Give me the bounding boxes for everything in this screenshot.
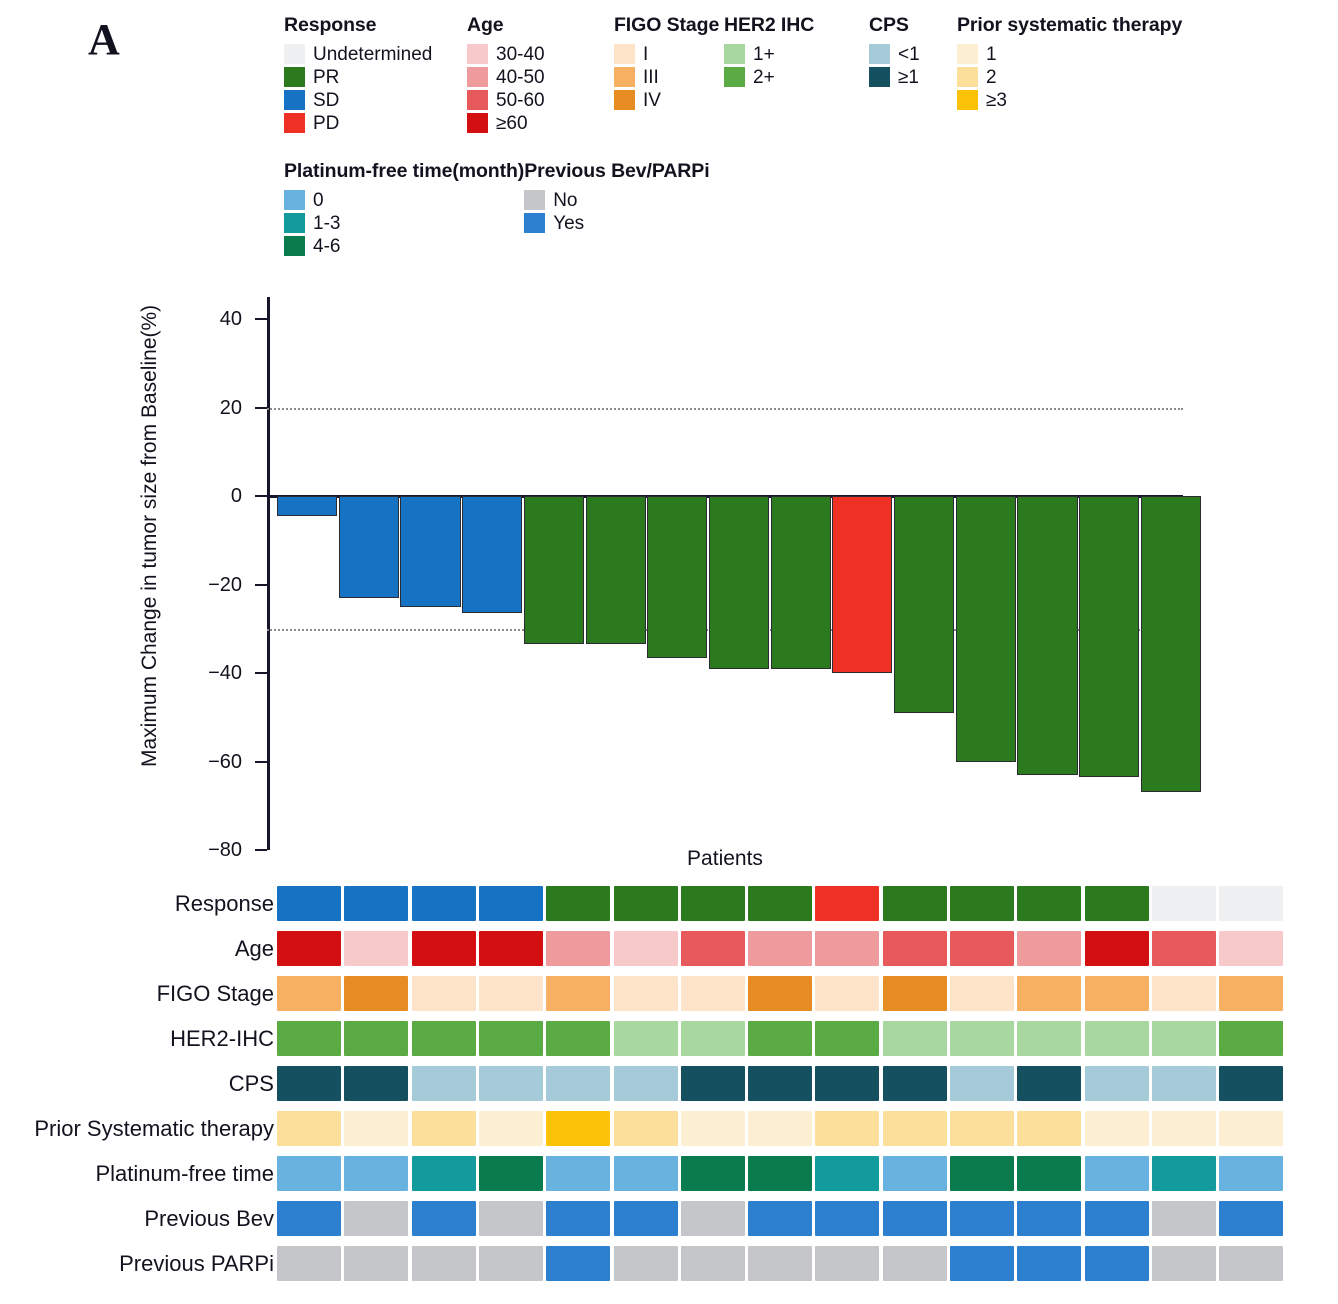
- heatmap-cell: [344, 1246, 408, 1281]
- bar: [832, 496, 892, 673]
- legend-row-bottom: Platinum-free time(month)01-34-6Previous…: [284, 160, 710, 257]
- heatmap-cell: [748, 1066, 812, 1101]
- reference-line: [267, 408, 1183, 410]
- bar: [709, 496, 769, 669]
- legend-title-response: Response: [284, 14, 467, 37]
- heatmap-cell: [412, 1246, 476, 1281]
- heatmap-cell: [681, 1201, 745, 1236]
- heatmap-cell: [546, 976, 610, 1011]
- heatmap-cell: [1085, 931, 1149, 966]
- bar: [1079, 496, 1139, 777]
- y-axis-tick-label: 20: [198, 397, 242, 420]
- heatmap-cell: [546, 1066, 610, 1101]
- heatmap-cell: [1152, 1156, 1216, 1191]
- heatmap-cell: [344, 976, 408, 1011]
- legend-item-label: 4-6: [313, 237, 340, 256]
- y-axis-tick-label: −60: [198, 751, 242, 774]
- bar: [400, 496, 460, 607]
- heatmap-cell: [344, 1201, 408, 1236]
- heatmap-cell: [1219, 886, 1283, 921]
- legend-item-label: ≥60: [496, 114, 528, 133]
- legend-swatch-icon: [284, 190, 305, 210]
- legend-items-figo: IIIIIV: [614, 43, 724, 111]
- heatmap-cell: [1085, 1156, 1149, 1191]
- heatmap-cell: [883, 1021, 947, 1056]
- legend-swatch-icon: [284, 236, 305, 256]
- heatmap-cell: [412, 976, 476, 1011]
- heatmap-cell: [614, 886, 678, 921]
- heatmap-cell: [950, 1021, 1014, 1056]
- legend-item: 4-6: [284, 235, 524, 257]
- bar: [277, 496, 337, 516]
- heatmap-cell: [1085, 886, 1149, 921]
- bar: [956, 496, 1016, 761]
- heatmap-cell: [1017, 976, 1081, 1011]
- legend-swatch-icon: [284, 90, 305, 110]
- heatmap-cell: [412, 886, 476, 921]
- heatmap-cell: [412, 1021, 476, 1056]
- heatmap-cell: [614, 1066, 678, 1101]
- heatmap-cell: [479, 1246, 543, 1281]
- heatmap-cell: [614, 931, 678, 966]
- heatmap-cell: [950, 931, 1014, 966]
- heatmap-cell: [614, 976, 678, 1011]
- x-axis-label: Patients: [267, 847, 1183, 871]
- legend-item-label: 50-60: [496, 91, 545, 110]
- heatmap-cell: [412, 1111, 476, 1146]
- legend-item: 1-3: [284, 212, 524, 234]
- legend-item: 40-50: [467, 66, 614, 88]
- heatmap-cell: [681, 1156, 745, 1191]
- heatmap-cell: [748, 1111, 812, 1146]
- legend-swatch-icon: [524, 213, 545, 233]
- heatmap-row-platinum-free-time: Platinum-free time: [0, 1156, 1338, 1201]
- legend-item-label: Yes: [553, 214, 584, 233]
- legend-swatch-icon: [724, 44, 745, 64]
- heatmap-cell: [614, 1246, 678, 1281]
- heatmap-cell: [748, 1156, 812, 1191]
- legend-title-platinum_free_time: Platinum-free time(month): [284, 160, 524, 183]
- heatmap-cell: [277, 1111, 341, 1146]
- heatmap-cell: [1152, 1111, 1216, 1146]
- legend-swatch-icon: [869, 67, 890, 87]
- heatmap-cell: [883, 1156, 947, 1191]
- legend-item: 0: [284, 189, 524, 211]
- legend-item-label: 2+: [753, 68, 775, 87]
- heatmap-cell: [412, 1201, 476, 1236]
- heatmap-row-label-previous-bev: Previous Bev: [144, 1201, 274, 1236]
- heatmap-cell: [748, 976, 812, 1011]
- heatmap-cell: [815, 1201, 879, 1236]
- heatmap-cell: [883, 976, 947, 1011]
- legend-swatch-icon: [614, 44, 635, 64]
- y-axis-tick: [255, 849, 267, 851]
- heatmap-cell: [479, 1021, 543, 1056]
- heatmap-cell: [479, 886, 543, 921]
- heatmap-cell: [883, 1111, 947, 1146]
- heatmap-cell: [950, 1246, 1014, 1281]
- y-axis-tick: [255, 495, 267, 497]
- heatmap-cell: [546, 931, 610, 966]
- bar: [894, 496, 954, 713]
- legend-item: I: [614, 43, 724, 65]
- heatmap-cell: [883, 931, 947, 966]
- bar: [1141, 496, 1201, 792]
- heatmap-cell: [614, 1156, 678, 1191]
- legend-group-figo: FIGO StageIIIIIV: [614, 14, 724, 111]
- heatmap-cell: [277, 886, 341, 921]
- legend-title-cps: CPS: [869, 14, 957, 37]
- bar: [771, 496, 831, 669]
- heatmap-cell: [344, 1156, 408, 1191]
- heatmap-cell: [344, 1111, 408, 1146]
- heatmap-cell: [815, 931, 879, 966]
- heatmap-cell: [1152, 976, 1216, 1011]
- heatmap-row-label-her2-ihc: HER2-IHC: [170, 1021, 274, 1056]
- heatmap-cell: [681, 1111, 745, 1146]
- heatmap-cell: [1152, 1021, 1216, 1056]
- heatmap-cell: [344, 1066, 408, 1101]
- legend-item: IV: [614, 89, 724, 111]
- heatmap-cell: [1017, 1246, 1081, 1281]
- heatmap-cell: [815, 1111, 879, 1146]
- heatmap-cell: [883, 1066, 947, 1101]
- bar: [462, 496, 522, 613]
- heatmap-cell: [748, 886, 812, 921]
- heatmap-cell: [1017, 1021, 1081, 1056]
- y-axis-label: Maximum Change in tumor size from Baseli…: [138, 347, 162, 767]
- heatmap-row-cps: CPS: [0, 1066, 1338, 1111]
- heatmap-cell: [815, 1156, 879, 1191]
- legend-group-prior_therapy: Prior systematic therapy12≥3: [957, 14, 1197, 111]
- legend-item: 1: [957, 43, 1197, 65]
- legend-items-prior_therapy: 12≥3: [957, 43, 1197, 111]
- legend-swatch-icon: [614, 67, 635, 87]
- legend-item-label: 30-40: [496, 45, 545, 64]
- legend-item: 2+: [724, 66, 869, 88]
- legend-item-label: 2: [986, 68, 997, 87]
- heatmap-cell: [479, 931, 543, 966]
- heatmap-cell: [1219, 931, 1283, 966]
- heatmap-row-label-age: Age: [235, 931, 274, 966]
- heatmap-cell: [546, 1021, 610, 1056]
- heatmap-cell: [681, 1246, 745, 1281]
- bar: [524, 496, 584, 644]
- heatmap-cell: [1152, 1246, 1216, 1281]
- legend-item-label: III: [643, 68, 659, 87]
- heatmap-cell: [1017, 1066, 1081, 1101]
- legend-swatch-icon: [467, 113, 488, 133]
- legend-swatch-icon: [467, 44, 488, 64]
- heatmap-cell: [883, 1201, 947, 1236]
- legend-group-cps: CPS<1≥1: [869, 14, 957, 88]
- legend-row-top: ResponseUndeterminedPRSDPDAge30-4040-505…: [284, 14, 1197, 134]
- heatmap-cell: [344, 1021, 408, 1056]
- heatmap-cell: [815, 1066, 879, 1101]
- heatmap-cell: [950, 1066, 1014, 1101]
- legend-swatch-icon: [957, 67, 978, 87]
- legend-item-label: ≥3: [986, 91, 1007, 110]
- legend-item: ≥1: [869, 66, 957, 88]
- heatmap-cell: [412, 1156, 476, 1191]
- waterfall-chart: Maximum Change in tumor size from Baseli…: [0, 275, 1338, 875]
- heatmap-row-figo-stage: FIGO Stage: [0, 976, 1338, 1021]
- legend-item-label: ≥1: [898, 68, 919, 87]
- heatmap-cell: [546, 886, 610, 921]
- y-axis-tick: [255, 318, 267, 320]
- heatmap-cell: [748, 931, 812, 966]
- heatmap-cell: [479, 1111, 543, 1146]
- heatmap-cell: [546, 1156, 610, 1191]
- heatmap-cell: [614, 1201, 678, 1236]
- legend-item: Undetermined: [284, 43, 467, 65]
- heatmap-cell: [1017, 886, 1081, 921]
- heatmap-cell: [950, 1156, 1014, 1191]
- legend-item-label: <1: [898, 45, 920, 64]
- legend-title-her2: HER2 IHC: [724, 14, 869, 37]
- legend-swatch-icon: [284, 44, 305, 64]
- legend-item-label: PD: [313, 114, 339, 133]
- heatmap-cell: [277, 1021, 341, 1056]
- legend-item: Yes: [524, 212, 709, 234]
- heatmap-cell: [950, 1201, 1014, 1236]
- heatmap-cell: [748, 1246, 812, 1281]
- legend-title-prior_therapy: Prior systematic therapy: [957, 14, 1197, 37]
- heatmap-cell: [815, 976, 879, 1011]
- legend-swatch-icon: [524, 190, 545, 210]
- heatmap-cell: [546, 1201, 610, 1236]
- heatmap-cell: [1219, 976, 1283, 1011]
- heatmap-cell: [614, 1111, 678, 1146]
- legend-item-label: IV: [643, 91, 661, 110]
- heatmap-cell: [681, 1066, 745, 1101]
- legend-items-age: 30-4040-5050-60≥60: [467, 43, 614, 134]
- legend-items-previous_bev_parpi: NoYes: [524, 189, 709, 234]
- legend-group-age: Age30-4040-5050-60≥60: [467, 14, 614, 134]
- heatmap-cell: [344, 886, 408, 921]
- heatmap-cell: [277, 1201, 341, 1236]
- legend-item-label: Undetermined: [313, 45, 432, 64]
- legend-swatch-icon: [869, 44, 890, 64]
- y-axis-tick: [255, 672, 267, 674]
- heatmap-cell: [1219, 1066, 1283, 1101]
- legend-item: ≥60: [467, 112, 614, 134]
- heatmap-cell: [815, 1021, 879, 1056]
- bar: [647, 496, 707, 657]
- plot-region: [267, 297, 1183, 850]
- legend-item: No: [524, 189, 709, 211]
- legend-item-label: I: [643, 45, 648, 64]
- heatmap-cell: [614, 1021, 678, 1056]
- heatmap-row-age: Age: [0, 931, 1338, 976]
- legend-item-label: SD: [313, 91, 339, 110]
- heatmap-cell: [1152, 1066, 1216, 1101]
- heatmap-cell: [1219, 1111, 1283, 1146]
- legend-item: III: [614, 66, 724, 88]
- y-axis-tick-label: 0: [198, 485, 242, 508]
- heatmap-cell: [748, 1201, 812, 1236]
- heatmap-row-her2-ihc: HER2-IHC: [0, 1021, 1338, 1066]
- bar: [586, 496, 646, 644]
- heatmap-cell: [1219, 1246, 1283, 1281]
- heatmap-row-label-prior-systematic-therapy: Prior Systematic therapy: [34, 1111, 274, 1146]
- heatmap-cell: [277, 931, 341, 966]
- heatmap-cell: [1085, 1066, 1149, 1101]
- heatmap-cell: [1152, 886, 1216, 921]
- legend-title-previous_bev_parpi: Previous Bev/PARPi: [524, 160, 709, 183]
- heatmap-cell: [1085, 1201, 1149, 1236]
- heatmap-cell: [546, 1246, 610, 1281]
- legend-items-response: UndeterminedPRSDPD: [284, 43, 467, 134]
- heatmap-cell: [883, 1246, 947, 1281]
- legend-swatch-icon: [957, 44, 978, 64]
- heatmap-cell: [546, 1111, 610, 1146]
- legend-items-her2: 1+2+: [724, 43, 869, 88]
- heatmap-cell: [815, 1246, 879, 1281]
- legend-swatch-icon: [724, 67, 745, 87]
- panel-letter: A: [88, 18, 120, 62]
- heatmap-cell: [883, 886, 947, 921]
- heatmap-row-response: Response: [0, 886, 1338, 931]
- legend-swatch-icon: [614, 90, 635, 110]
- heatmap-cell: [950, 886, 1014, 921]
- heatmap-cell: [277, 1246, 341, 1281]
- legend-title-figo: FIGO Stage: [614, 14, 724, 37]
- y-axis-tick-label: −80: [198, 839, 242, 862]
- legend-item: <1: [869, 43, 957, 65]
- heatmap-cell: [1152, 931, 1216, 966]
- bar: [339, 496, 399, 598]
- heatmap-cell: [277, 1156, 341, 1191]
- legend-swatch-icon: [284, 213, 305, 233]
- heatmap-cell: [1085, 1246, 1149, 1281]
- legend-item: 1+: [724, 43, 869, 65]
- heatmap-row-label-platinum-free-time: Platinum-free time: [95, 1156, 274, 1191]
- legend-item-label: PR: [313, 68, 339, 87]
- heatmap-cell: [681, 931, 745, 966]
- legend-items-cps: <1≥1: [869, 43, 957, 88]
- y-axis-tick-label: −40: [198, 662, 242, 685]
- heatmap-cell: [344, 931, 408, 966]
- heatmap-cell: [1017, 1156, 1081, 1191]
- legend-item: SD: [284, 89, 467, 111]
- heatmap-cell: [681, 886, 745, 921]
- legend-items-platinum_free_time: 01-34-6: [284, 189, 524, 257]
- legend-group-previous_bev_parpi: Previous Bev/PARPiNoYes: [524, 160, 709, 234]
- legend-item: ≥3: [957, 89, 1197, 111]
- heatmap-cell: [1219, 1156, 1283, 1191]
- legend-title-age: Age: [467, 14, 614, 37]
- legend-group-response: ResponseUndeterminedPRSDPD: [284, 14, 467, 134]
- legend-item: PD: [284, 112, 467, 134]
- heatmap-cell: [1017, 931, 1081, 966]
- legend-item-label: 1: [986, 45, 997, 64]
- legend-swatch-icon: [284, 67, 305, 87]
- y-axis-tick: [255, 584, 267, 586]
- heatmap-row-prior-systematic-therapy: Prior Systematic therapy: [0, 1111, 1338, 1156]
- heatmap-cell: [1152, 1201, 1216, 1236]
- heatmap-cell: [748, 1021, 812, 1056]
- heatmap-cell: [950, 976, 1014, 1011]
- heatmap-row-previous-parpi: Previous PARPi: [0, 1246, 1338, 1291]
- legend-item-label: 1+: [753, 45, 775, 64]
- legend-item: 50-60: [467, 89, 614, 111]
- legend-item-label: 40-50: [496, 68, 545, 87]
- heatmap-row-label-response: Response: [175, 886, 274, 921]
- heatmap-cell: [412, 1066, 476, 1101]
- heatmap-row-label-figo-stage: FIGO Stage: [157, 976, 274, 1011]
- annotation-heatmap: ResponseAgeFIGO StageHER2-IHCCPSPrior Sy…: [0, 886, 1338, 1291]
- legend-swatch-icon: [957, 90, 978, 110]
- heatmap-cell: [1085, 976, 1149, 1011]
- legend-group-platinum_free_time: Platinum-free time(month)01-34-6: [284, 160, 524, 257]
- heatmap-cell: [681, 976, 745, 1011]
- heatmap-row-previous-bev: Previous Bev: [0, 1201, 1338, 1246]
- legend-group-her2: HER2 IHC1+2+: [724, 14, 869, 88]
- legend-swatch-icon: [284, 113, 305, 133]
- heatmap-cell: [950, 1111, 1014, 1146]
- legend-swatch-icon: [467, 90, 488, 110]
- heatmap-cell: [1085, 1021, 1149, 1056]
- heatmap-cell: [479, 1156, 543, 1191]
- legend-item: 30-40: [467, 43, 614, 65]
- heatmap-cell: [277, 1066, 341, 1101]
- heatmap-cell: [815, 886, 879, 921]
- legend-item: PR: [284, 66, 467, 88]
- heatmap-cell: [1017, 1111, 1081, 1146]
- heatmap-cell: [479, 1201, 543, 1236]
- heatmap-cell: [479, 976, 543, 1011]
- heatmap-cell: [1017, 1201, 1081, 1236]
- legend-item: 2: [957, 66, 1197, 88]
- heatmap-cell: [479, 1066, 543, 1101]
- heatmap-cell: [1219, 1201, 1283, 1236]
- legend-item-label: 0: [313, 191, 324, 210]
- heatmap-cell: [681, 1021, 745, 1056]
- heatmap-cell: [1085, 1111, 1149, 1146]
- legend-item-label: 1-3: [313, 214, 340, 233]
- heatmap-cell: [412, 931, 476, 966]
- y-axis-tick: [255, 407, 267, 409]
- heatmap-cell: [277, 976, 341, 1011]
- bar: [1017, 496, 1077, 775]
- legend-item-label: No: [553, 191, 577, 210]
- y-axis-tick-label: 40: [198, 308, 242, 331]
- y-axis-tick: [255, 761, 267, 763]
- heatmap-row-label-cps: CPS: [229, 1066, 274, 1101]
- legend-swatch-icon: [467, 67, 488, 87]
- heatmap-cell: [1219, 1021, 1283, 1056]
- heatmap-row-label-previous-parpi: Previous PARPi: [119, 1246, 274, 1281]
- y-axis-tick-label: −20: [198, 574, 242, 597]
